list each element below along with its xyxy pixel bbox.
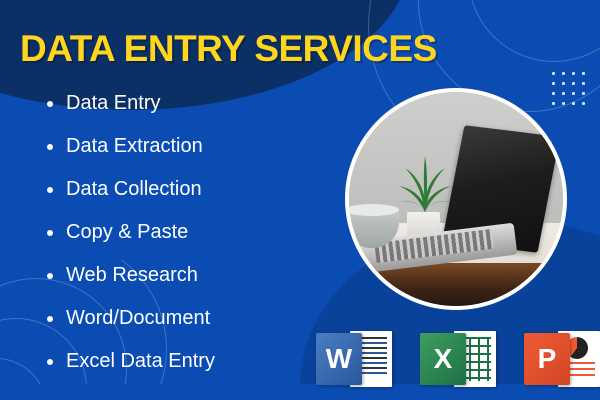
bullet-icon — [47, 359, 53, 365]
bullet-icon — [47, 187, 53, 193]
list-item: Copy & Paste — [38, 211, 318, 254]
service-label: Excel Data Entry — [66, 350, 215, 373]
service-label: Data Collection — [66, 178, 202, 201]
excel-tile: X — [420, 333, 466, 385]
service-label: Word/Document — [66, 307, 210, 330]
list-item: Excel Data Entry — [38, 340, 318, 383]
potted-plant-leaves-icon — [397, 150, 453, 216]
list-item: Data Extraction — [38, 125, 318, 168]
bullet-icon — [47, 316, 53, 322]
service-label: Data Entry — [66, 92, 160, 115]
bullet-icon — [47, 230, 53, 236]
bottom-strip — [0, 384, 600, 400]
poster-canvas: DATA ENTRY SERVICES Data Entry Data Extr… — [0, 0, 600, 400]
word-tile: W — [316, 333, 362, 385]
list-item: Web Research — [38, 254, 318, 297]
service-label: Copy & Paste — [66, 221, 188, 244]
list-item: Data Entry — [38, 82, 318, 125]
service-label: Data Extraction — [66, 135, 203, 158]
bullet-icon — [47, 273, 53, 279]
word-icon: W — [316, 331, 392, 387]
service-label: Web Research — [66, 264, 198, 287]
bullet-icon — [47, 101, 53, 107]
powerpoint-icon: P — [524, 331, 600, 387]
excel-icon: X — [420, 331, 496, 387]
list-item: Word/Document — [38, 297, 318, 340]
desk-photo — [345, 88, 567, 310]
services-list: Data Entry Data Extraction Data Collecti… — [38, 82, 318, 383]
list-item: Data Collection — [38, 168, 318, 211]
page-title: DATA ENTRY SERVICES — [20, 27, 437, 71]
powerpoint-tile: P — [524, 333, 570, 385]
bullet-icon — [47, 144, 53, 150]
coffee-mug-rim — [345, 204, 399, 216]
office-apps-row: W X P — [316, 331, 600, 387]
